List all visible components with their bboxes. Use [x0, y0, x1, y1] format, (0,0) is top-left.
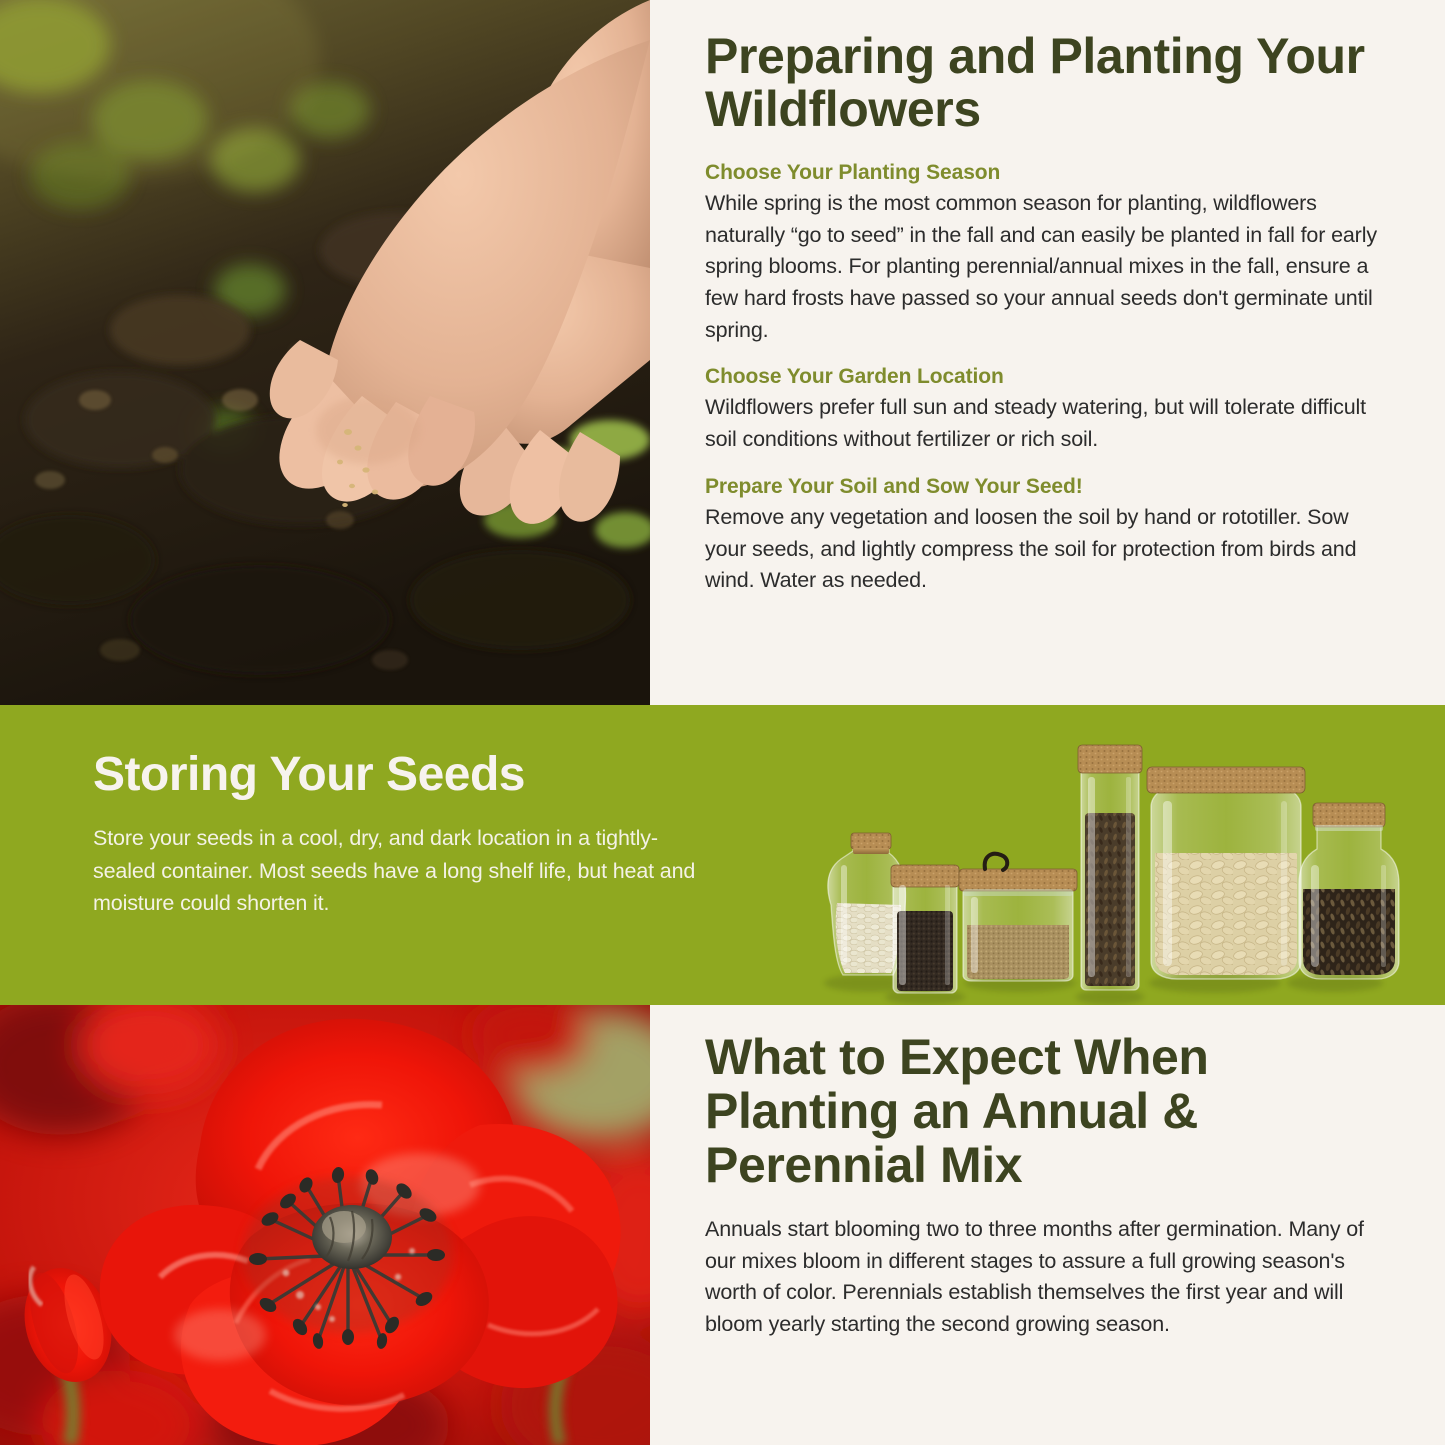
preparing-and-planting-section: Preparing and Planting Your Wildflowers … [0, 0, 1445, 705]
spacer [705, 456, 1390, 474]
what-to-expect-body: Annuals start blooming two to three mont… [705, 1214, 1390, 1340]
jar-long-dark-seeds [1078, 745, 1142, 990]
spacer [705, 346, 1390, 364]
red-poppy-flower-photo [0, 1005, 650, 1445]
wildflower-planting-infographic: Preparing and Planting Your Wildflowers … [0, 0, 1445, 1445]
jar-black-seeds [891, 865, 959, 993]
body-planting-season: While spring is the most common season f… [705, 188, 1390, 346]
page-title: Preparing and Planting Your Wildflowers [705, 30, 1390, 136]
what-to-expect-title: What to Expect When Planting an Annual &… [705, 1030, 1390, 1192]
top-text-column: Preparing and Planting Your Wildflowers … [650, 0, 1445, 705]
poppy-photo-graphic [0, 1005, 650, 1445]
what-to-expect-section: What to Expect When Planting an Annual &… [0, 1005, 1445, 1445]
subheading-garden-location: Choose Your Garden Location [705, 364, 1390, 390]
soil-photo-graphic [0, 0, 650, 705]
jar-sunflower-seeds [1299, 803, 1399, 979]
body-prepare-soil: Remove any vegetation and loosen the soi… [705, 502, 1390, 597]
body-garden-location: Wildflowers prefer full sun and steady w… [705, 392, 1390, 455]
subheading-planting-season: Choose Your Planting Season [705, 160, 1390, 186]
seed-jars-graphic [815, 725, 1415, 1005]
green-text-column: Storing Your Seeds Store your seeds in a… [93, 750, 713, 919]
storing-seeds-body: Store your seeds in a cool, dry, and dar… [93, 822, 713, 919]
hands-sowing-seeds-in-soil-photo [0, 0, 650, 705]
jar-pumpkin-seeds [1147, 767, 1305, 979]
jar-fine-seeds [959, 854, 1077, 981]
seed-storage-jars-photo [815, 725, 1415, 1005]
storing-your-seeds-section: Storing Your Seeds Store your seeds in a… [0, 705, 1445, 1005]
bottom-text-column: What to Expect When Planting an Annual &… [650, 1005, 1445, 1445]
subheading-prepare-soil: Prepare Your Soil and Sow Your Seed! [705, 474, 1390, 500]
storing-seeds-title: Storing Your Seeds [93, 750, 713, 800]
